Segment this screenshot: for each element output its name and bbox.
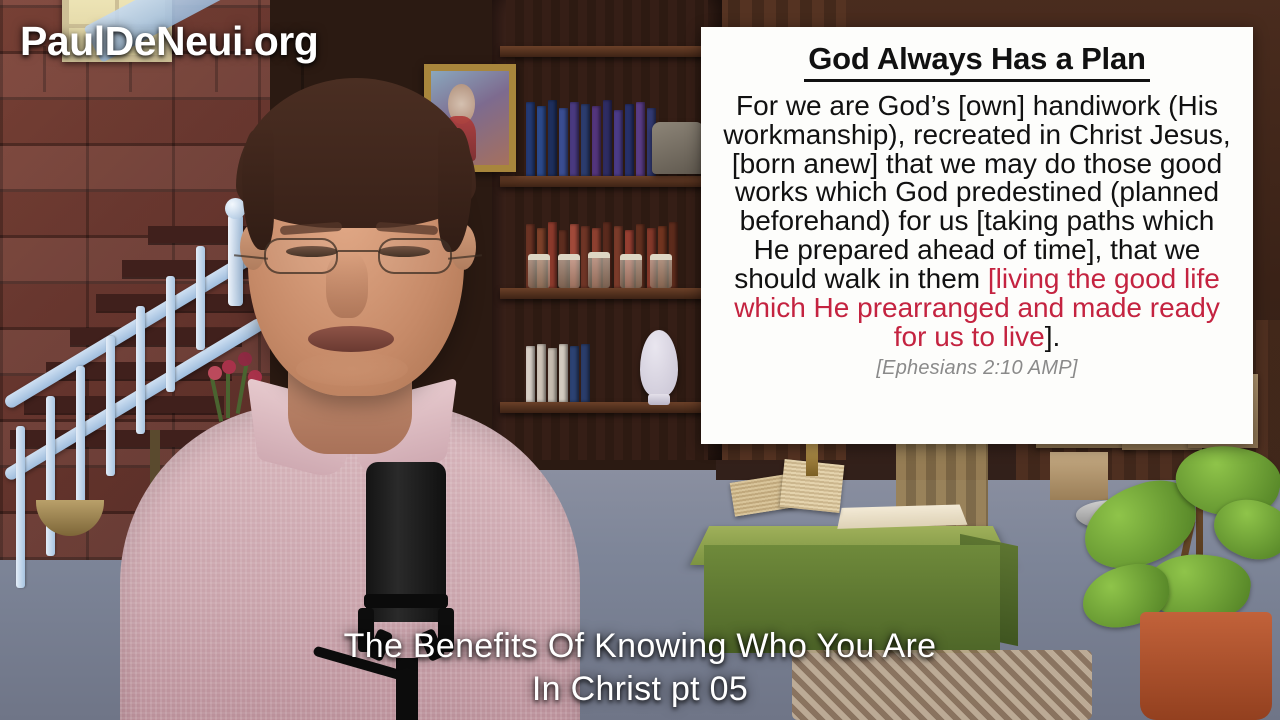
video-frame: PaulDeNeui.org God Always Has a Plan For… [0, 0, 1280, 720]
lens-right [378, 238, 452, 274]
baluster [106, 336, 115, 476]
chin [296, 352, 408, 386]
wooden-crate [1050, 452, 1108, 500]
paper-sheet [837, 504, 967, 528]
shelf-board [500, 46, 714, 57]
slide-body: For we are God’s [own] handiwork (His wo… [713, 92, 1241, 351]
glass-jar [620, 254, 642, 288]
shelf-statue [652, 122, 704, 174]
baluster [16, 426, 25, 588]
nose [326, 252, 368, 318]
caption-line-2: In Christ pt 05 [0, 668, 1280, 712]
glass-jar [588, 252, 610, 288]
mic-ring [364, 594, 448, 608]
video-caption: The Benefits Of Knowing Who You Are In C… [0, 625, 1280, 712]
slide-citation: [Ephesians 2:10 AMP] [713, 357, 1241, 380]
speaker [120, 74, 580, 720]
hair [236, 78, 476, 228]
site-watermark: PaulDeNeui.org [20, 18, 318, 65]
scripture-slide: God Always Has a Plan For we are God’s [… [701, 27, 1253, 444]
slide-title: God Always Has a Plan [804, 41, 1150, 82]
caption-line-1: The Benefits Of Knowing Who You Are [0, 625, 1280, 669]
baluster [76, 366, 85, 516]
slide-body-plain-end: ]. [1045, 321, 1061, 352]
glass-jar [650, 254, 672, 288]
mouth [308, 326, 394, 352]
